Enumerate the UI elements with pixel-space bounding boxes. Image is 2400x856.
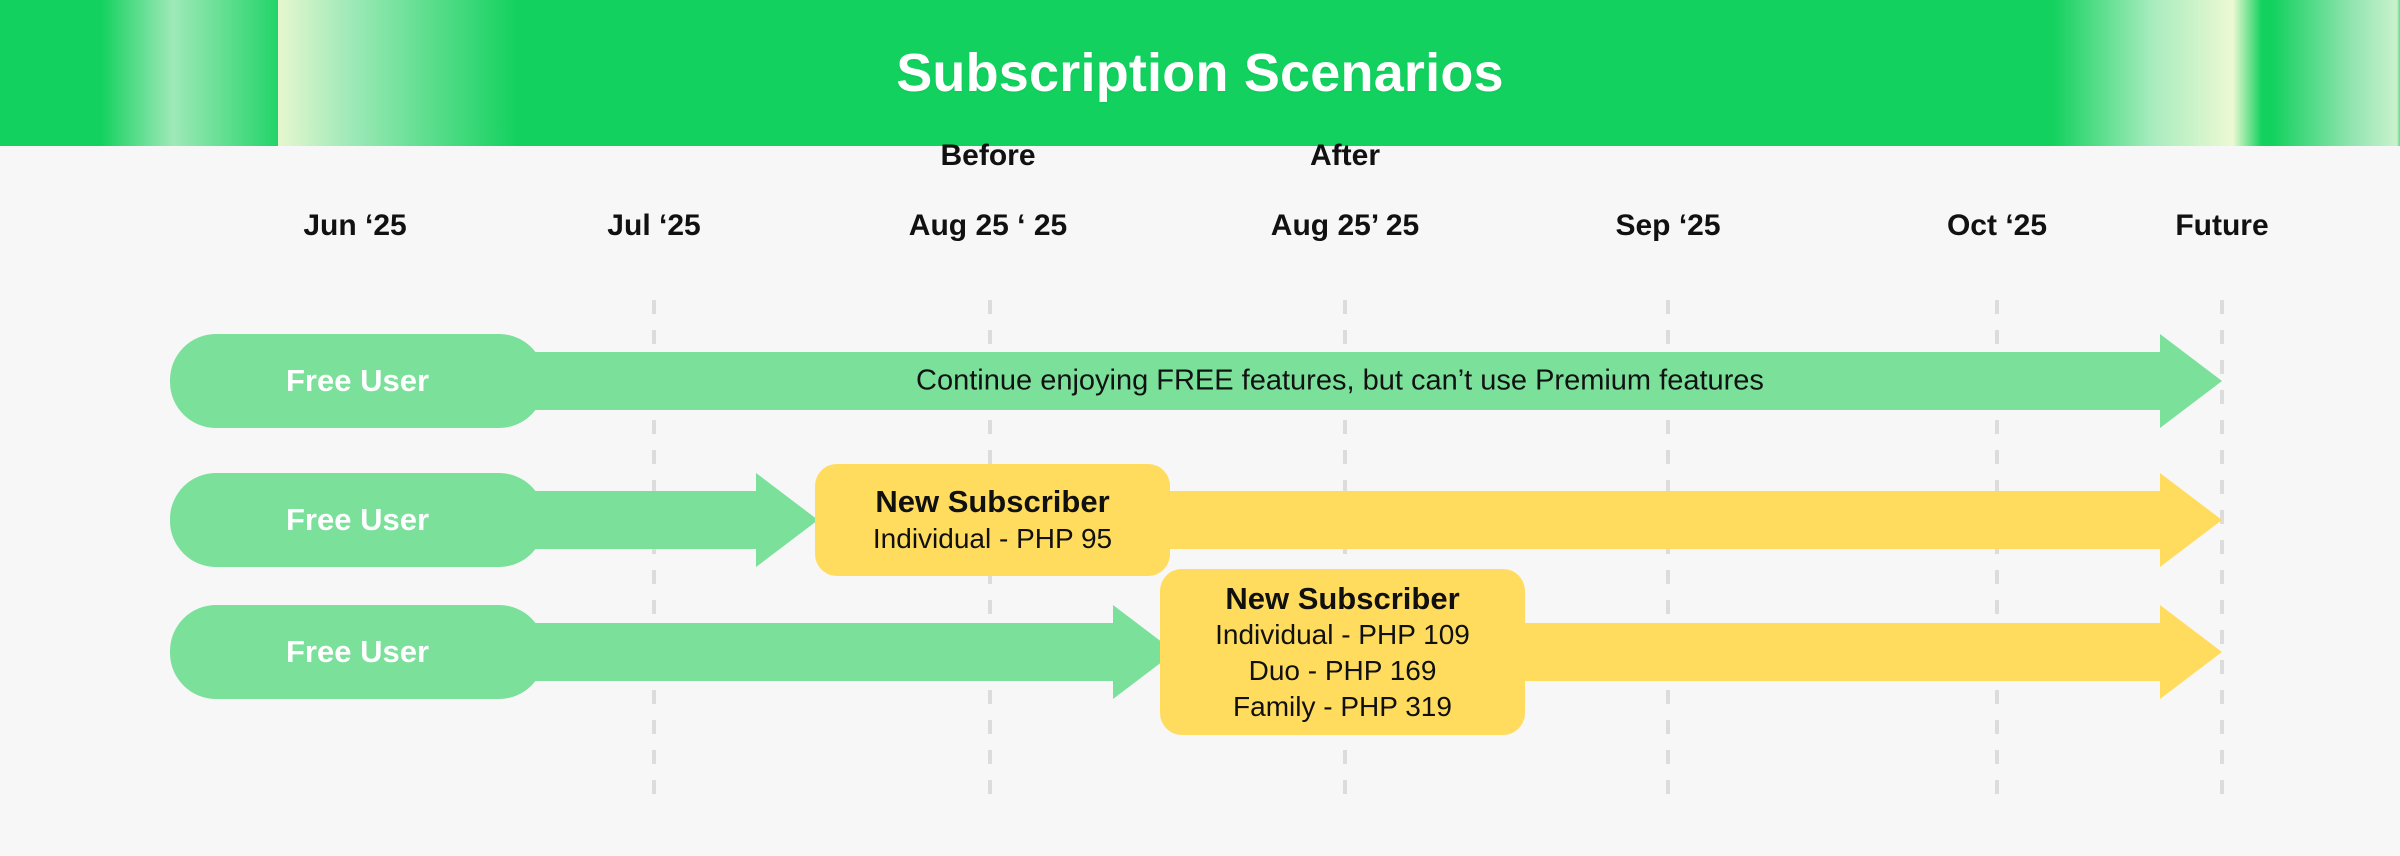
row2-yellow-shaft bbox=[1090, 491, 2160, 549]
subscription-scenarios-infographic: Subscription Scenarios Jun ‘25 Jul ‘25 B… bbox=[0, 0, 2400, 856]
scenario-row-subscribe-after-aug25: Free User New Subscriber Individual - PH… bbox=[0, 605, 2400, 699]
axis-label-jun-25-text: Jun ‘25 bbox=[303, 208, 406, 243]
row3-free-user-label: Free User bbox=[286, 634, 429, 670]
axis-label-jul-25: Jul ‘25 bbox=[607, 173, 700, 278]
row3-yellow-arrow-head bbox=[2160, 605, 2222, 699]
row2-new-subscriber-callout[interactable]: New Subscriber Individual - PHP 95 bbox=[815, 464, 1170, 576]
row2-free-user-label: Free User bbox=[286, 502, 429, 538]
axis-label-after-aug-25-line2: Aug 25’ 25 bbox=[1271, 208, 1419, 243]
row1-arrow-shaft bbox=[500, 352, 2160, 410]
row2-callout-title: New Subscriber bbox=[875, 483, 1109, 520]
axis-label-before-aug-25-line2: Aug 25 ‘ 25 bbox=[909, 208, 1067, 243]
row3-callout-line-2: Duo - PHP 169 bbox=[1249, 653, 1437, 689]
axis-label-future-text: Future bbox=[2175, 208, 2268, 243]
row1-green-arrow: Continue enjoying FREE features, but can… bbox=[500, 334, 2222, 428]
axis-label-oct-25-text: Oct ‘25 bbox=[1947, 208, 2047, 243]
row2-yellow-arrow bbox=[1090, 473, 2222, 567]
row2-free-user-pill[interactable]: Free User bbox=[170, 473, 545, 567]
row2-green-arrow bbox=[500, 473, 818, 567]
axis-label-future: Future bbox=[2175, 173, 2268, 278]
row3-green-shaft bbox=[500, 623, 1113, 681]
row3-green-arrow bbox=[500, 605, 1175, 699]
row3-callout-line-1: Individual - PHP 109 bbox=[1215, 617, 1470, 653]
timeline-axis-labels: Jun ‘25 Jul ‘25 Before Aug 25 ‘ 25 After… bbox=[0, 180, 2400, 278]
axis-label-sep-25: Sep ‘25 bbox=[1615, 173, 1720, 278]
row2-yellow-arrow-head bbox=[2160, 473, 2222, 567]
page-title: Subscription Scenarios bbox=[0, 0, 2400, 146]
row2-callout-line-1: Individual - PHP 95 bbox=[873, 521, 1112, 557]
axis-label-oct-25: Oct ‘25 bbox=[1947, 173, 2047, 278]
scenario-row-subscribe-before-aug25: Free User New Subscriber Individual - PH… bbox=[0, 473, 2400, 567]
axis-label-jul-25-text: Jul ‘25 bbox=[607, 208, 700, 243]
row1-free-user-label: Free User bbox=[286, 363, 429, 399]
header-banner: Subscription Scenarios bbox=[0, 0, 2400, 146]
row3-yellow-shaft bbox=[1430, 623, 2160, 681]
row3-callout-line-3: Family - PHP 319 bbox=[1233, 689, 1452, 725]
row3-callout-title: New Subscriber bbox=[1225, 580, 1459, 617]
axis-label-sep-25-text: Sep ‘25 bbox=[1615, 208, 1720, 243]
row3-yellow-arrow bbox=[1430, 605, 2222, 699]
row3-new-subscriber-callout[interactable]: New Subscriber Individual - PHP 109 Duo … bbox=[1160, 569, 1525, 735]
row3-free-user-pill[interactable]: Free User bbox=[170, 605, 545, 699]
row1-free-user-pill[interactable]: Free User bbox=[170, 334, 545, 428]
scenario-row-free-user-stays-free: Continue enjoying FREE features, but can… bbox=[0, 334, 2400, 428]
row2-green-arrow-head bbox=[756, 473, 818, 567]
row1-arrow-head bbox=[2160, 334, 2222, 428]
axis-label-jun-25: Jun ‘25 bbox=[303, 173, 406, 278]
